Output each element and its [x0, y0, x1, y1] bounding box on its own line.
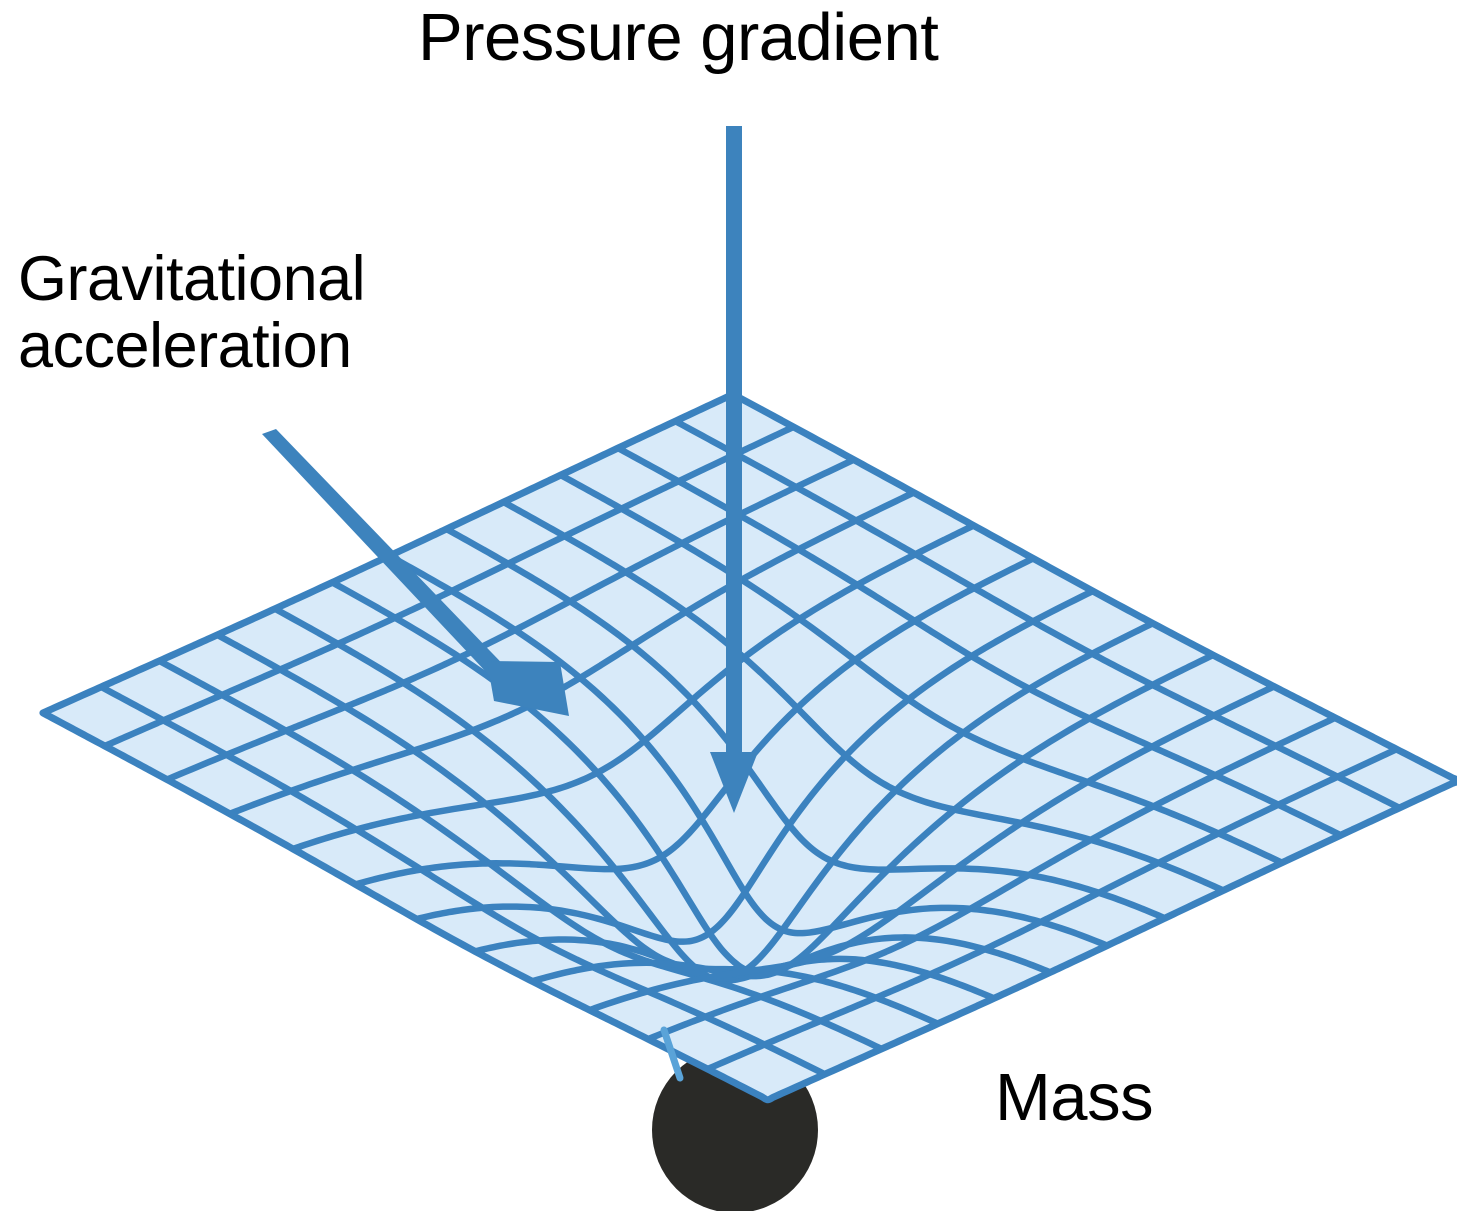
pressure-gradient-label: Pressure gradient: [418, 2, 938, 74]
gravitational-acceleration-label: Gravitational acceleration: [18, 246, 365, 381]
grid-surface: [43, 394, 1457, 1099]
mass-label: Mass: [995, 1062, 1153, 1134]
gravity-well-diagram: [0, 0, 1457, 1211]
pressure-arrow-shaft: [726, 126, 742, 756]
